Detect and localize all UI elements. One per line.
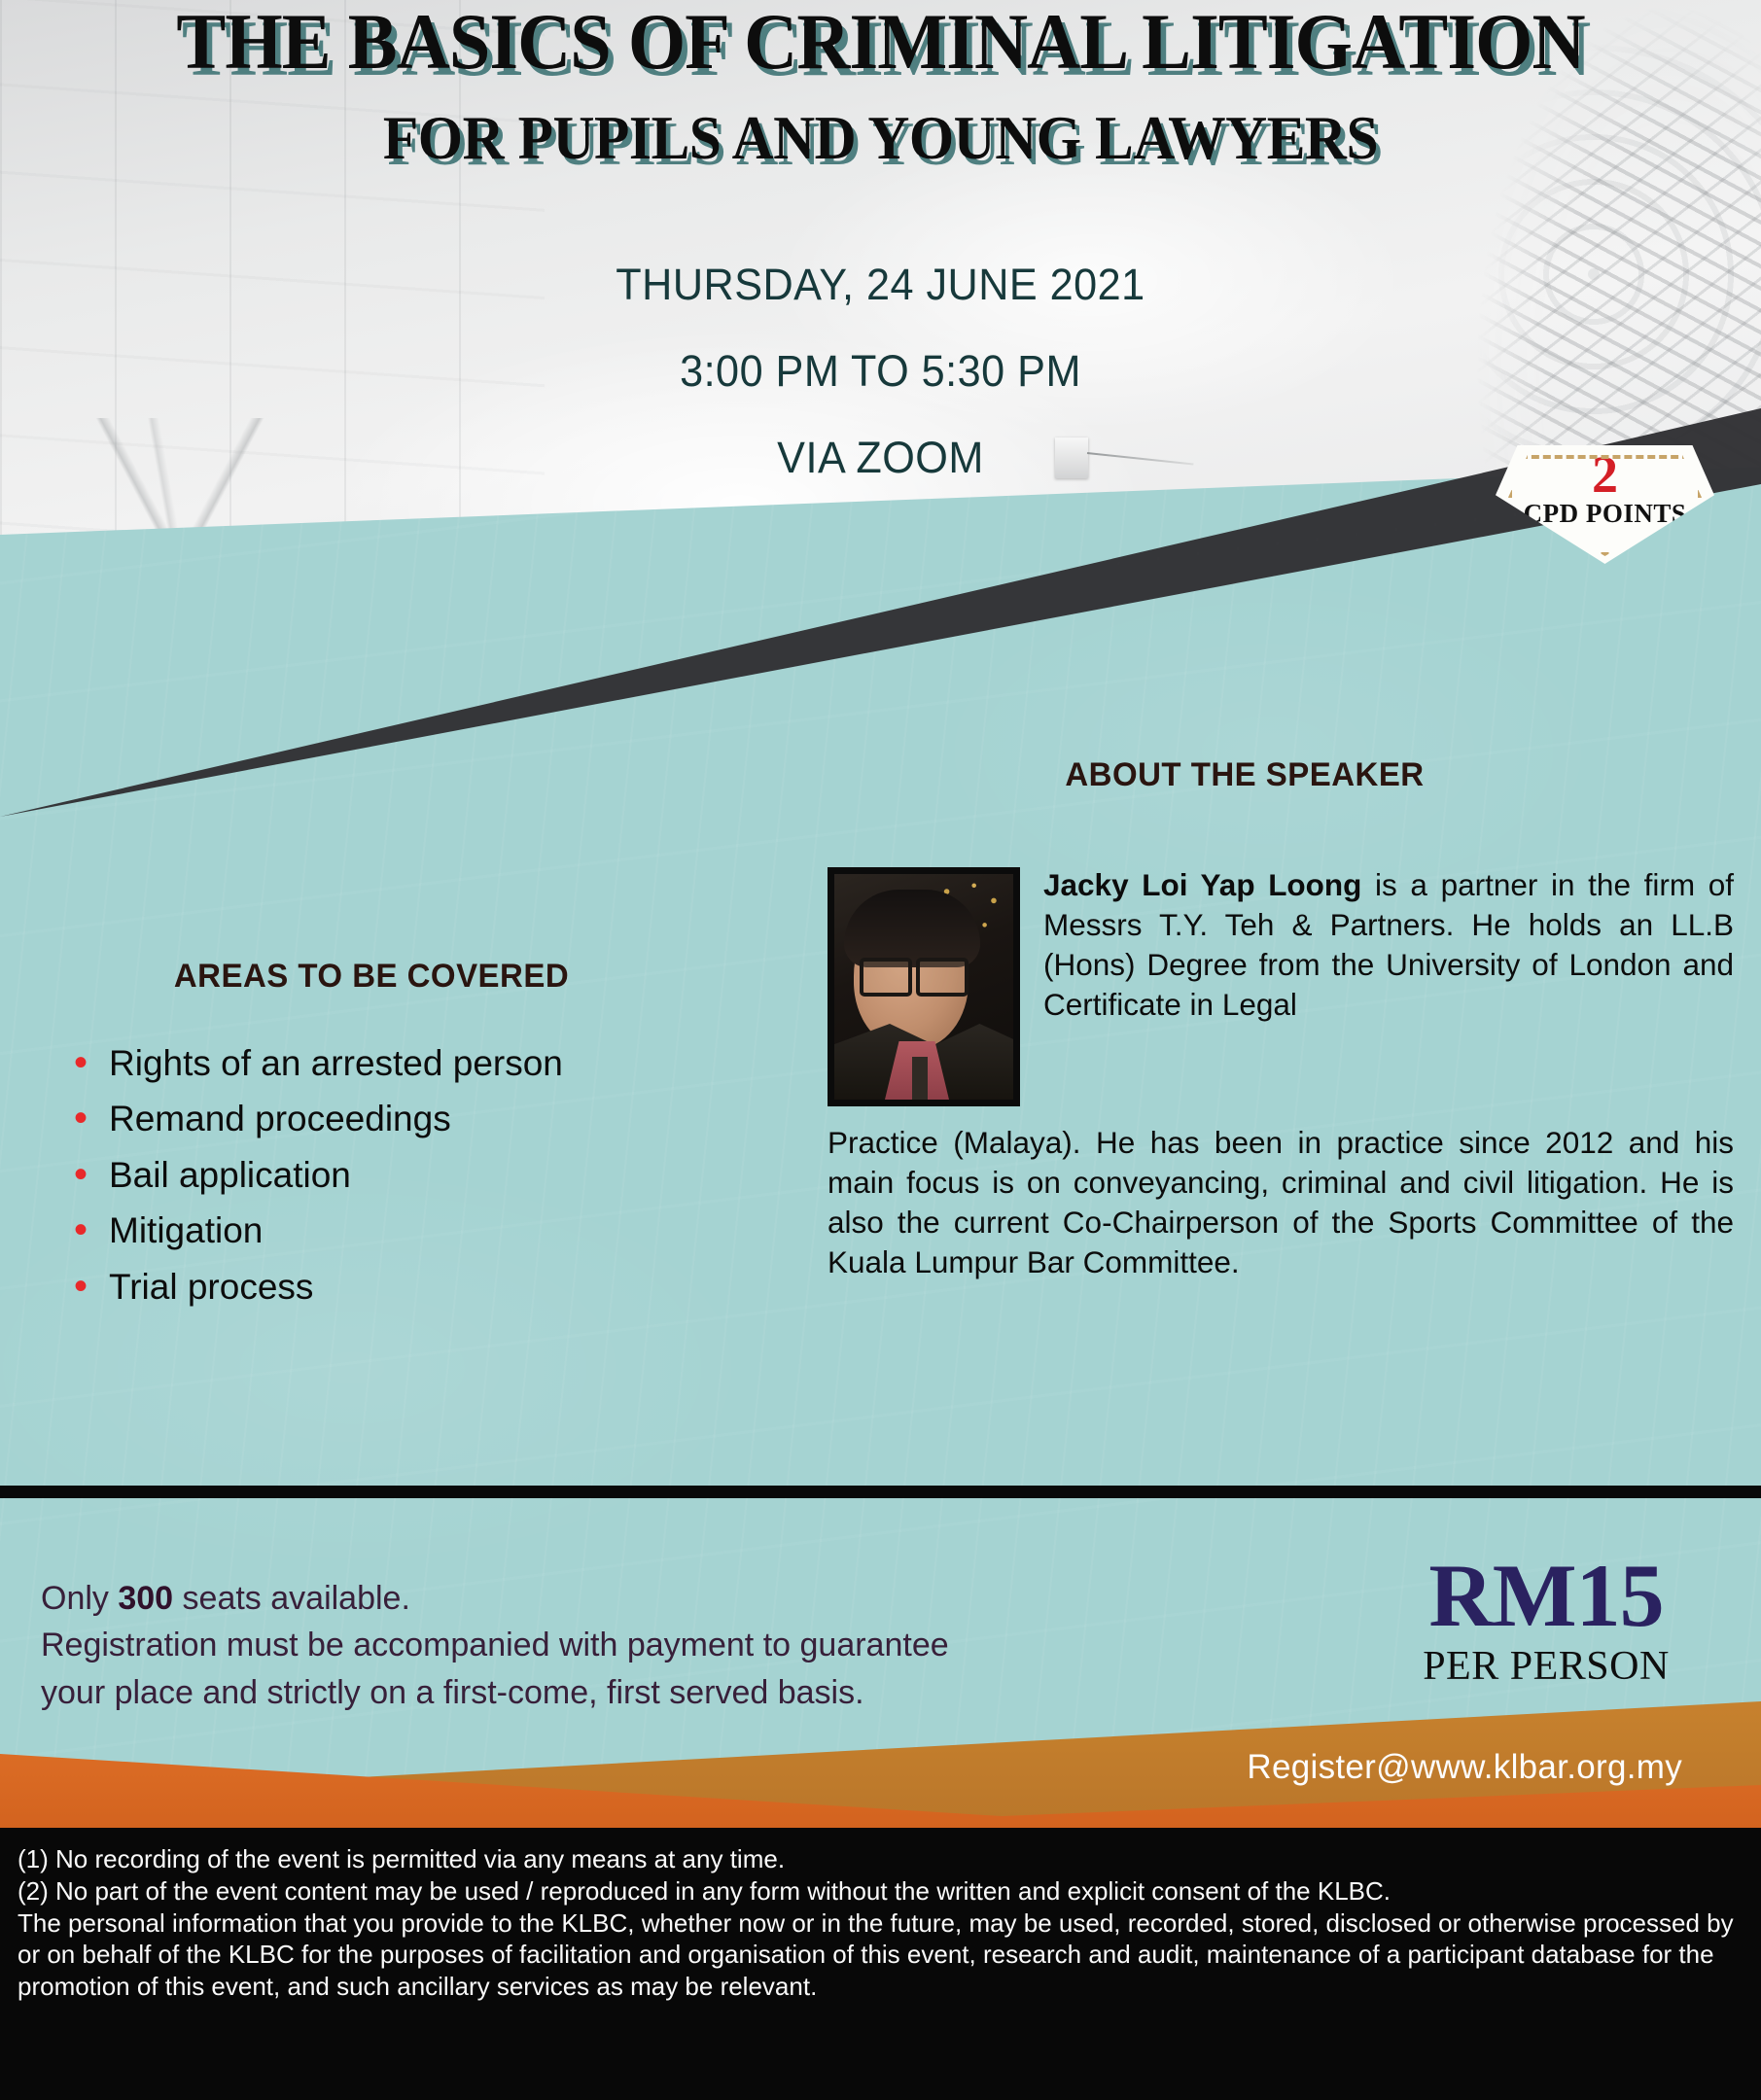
price-block: RM15 PER PERSON — [1352, 1551, 1741, 1689]
price-amount: RM15 — [1352, 1551, 1741, 1640]
seats-line: Only 300 seats available. — [41, 1575, 1286, 1622]
list-item: Remand proceedings — [70, 1099, 751, 1138]
speaker-name: Jacky Loi Yap Loong — [1043, 867, 1361, 902]
eyeglasses-icon — [858, 958, 970, 991]
registration-note-line1: Registration must be accompanied with pa… — [41, 1622, 1286, 1668]
about-speaker-heading: ABOUT THE SPEAKER — [867, 756, 1622, 794]
speaker-bio-continued: Practice (Malaya). He has been in practi… — [828, 1123, 1734, 1282]
cpd-points-value: 2 — [1592, 448, 1618, 501]
seats-count: 300 — [118, 1580, 173, 1617]
seats-prefix: Only — [41, 1580, 118, 1617]
necktie-icon — [912, 1057, 928, 1100]
register-url-link[interactable]: Register@www.klbar.org.my — [1021, 1748, 1721, 1787]
speaker-avatar — [828, 867, 1020, 1106]
footer-disclaimer: (1) No recording of the event is permitt… — [0, 1828, 1761, 2100]
list-item: Mitigation — [70, 1210, 751, 1250]
areas-covered-list: Rights of an arrested person Remand proc… — [70, 1043, 751, 1322]
event-poster: THE BASICS OF CRIMINAL LITIGATION FOR PU… — [0, 0, 1761, 2100]
registration-note-line2: your place and strictly on a first-come,… — [41, 1669, 1286, 1716]
areas-covered-heading: AREAS TO BE COVERED — [60, 958, 683, 996]
disclaimer-line-1: (1) No recording of the event is permitt… — [18, 1843, 1743, 1875]
disclaimer-line-2: (2) No part of the event content may be … — [18, 1875, 1743, 1907]
list-item: Bail application — [70, 1155, 751, 1195]
hair-shape-icon — [844, 890, 980, 967]
list-item: Trial process — [70, 1267, 751, 1307]
seats-suffix: seats available. — [173, 1580, 410, 1617]
list-item: Rights of an arrested person — [70, 1043, 751, 1083]
disclaimer-line-3: The personal information that you provid… — [18, 1907, 1743, 2003]
section-divider — [0, 1486, 1761, 1498]
cpd-points-label: CPD POINTS — [1524, 499, 1687, 529]
price-unit: PER PERSON — [1352, 1644, 1741, 1689]
speaker-bio-first-paragraph: Jacky Loi Yap Loong is a partner in the … — [1043, 865, 1734, 1025]
registration-note: Only 300 seats available. Registration m… — [41, 1575, 1286, 1716]
